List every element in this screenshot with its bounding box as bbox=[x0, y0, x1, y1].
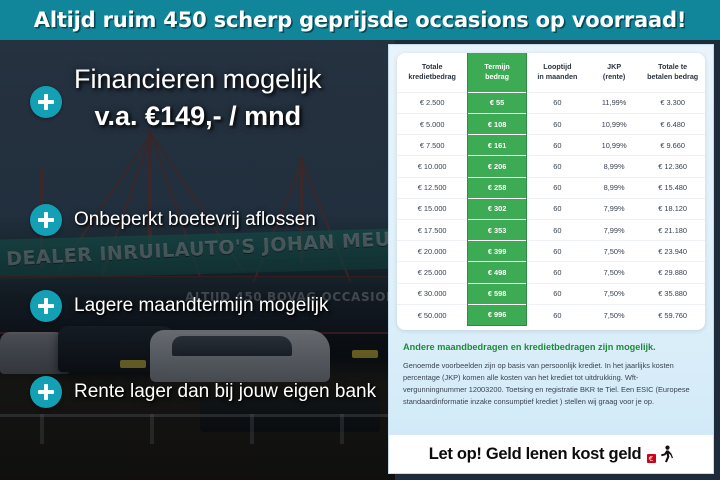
table-cell: € 23.940 bbox=[640, 241, 705, 262]
plus-icon bbox=[30, 290, 62, 322]
header-line: JKP bbox=[589, 62, 639, 72]
table-cell: € 30.000 bbox=[397, 283, 468, 304]
header-line: kredietbedrag bbox=[398, 72, 466, 82]
top-banner: Altijd ruim 450 scherp geprijsde occasio… bbox=[0, 0, 720, 40]
feature-item-monthly-rate: Lagere maandtermijn mogelijk bbox=[0, 290, 384, 322]
table-cell: € 498 bbox=[468, 262, 527, 283]
table-column-header: JKP(rente) bbox=[588, 53, 640, 92]
table-cell: 11,99% bbox=[588, 92, 640, 113]
table-row: € 15.000€ 302607,99%€ 18.120 bbox=[397, 198, 705, 219]
table-row: € 5.000€ 1086010,99%€ 6.480 bbox=[397, 114, 705, 135]
warning-bar: Let op! Geld lenen kost geld bbox=[389, 435, 713, 473]
table-cell: € 15.480 bbox=[640, 177, 705, 198]
feature-list: Financieren mogelijk v.a. €149,- / mnd O… bbox=[0, 40, 390, 480]
table-cell: € 3.300 bbox=[640, 92, 705, 113]
table-cell: € 25.000 bbox=[397, 262, 468, 283]
table-cell: € 55 bbox=[468, 92, 527, 113]
table-cell: 60 bbox=[526, 220, 588, 241]
table-cell: 60 bbox=[526, 114, 588, 135]
table-cell: € 108 bbox=[468, 114, 527, 135]
table-cell: € 29.880 bbox=[640, 262, 705, 283]
table-column-header: Totale tebetalen bedrag bbox=[640, 53, 705, 92]
advertisement-stage: DEALER INRUILAUTO'S JOHAN MEURE ALTIJD 4… bbox=[0, 0, 720, 480]
disclaimer-body: Genoemde voorbeelden zijn op basis van p… bbox=[403, 360, 699, 408]
table-cell: € 18.120 bbox=[640, 198, 705, 219]
table-cell: € 2.500 bbox=[397, 92, 468, 113]
table-cell: 60 bbox=[526, 135, 588, 156]
feature-item-interest-rate: Rente lager dan bij jouw eigen bank bbox=[0, 376, 384, 408]
table-cell: € 15.000 bbox=[397, 198, 468, 219]
table-cell: 10,99% bbox=[588, 135, 640, 156]
table-cell: € 10.000 bbox=[397, 156, 468, 177]
table-column-header: Looptijdin maanden bbox=[526, 53, 588, 92]
header-line: Totale te bbox=[641, 62, 704, 72]
table-cell: € 258 bbox=[468, 177, 527, 198]
table-column-header: Termijnbedrag bbox=[468, 53, 527, 92]
table-cell: 7,50% bbox=[588, 304, 640, 325]
header-line: Looptijd bbox=[528, 62, 587, 72]
table-cell: € 5.000 bbox=[397, 114, 468, 135]
table-cell: 60 bbox=[526, 177, 588, 198]
table-cell: € 302 bbox=[468, 198, 527, 219]
table-cell: 8,99% bbox=[588, 156, 640, 177]
table-cell: 60 bbox=[526, 283, 588, 304]
header-line: betalen bedrag bbox=[641, 72, 704, 82]
plus-icon bbox=[30, 204, 62, 236]
financing-headline-line1: Financieren mogelijk bbox=[74, 62, 322, 97]
table-cell: 8,99% bbox=[588, 177, 640, 198]
table-cell: 60 bbox=[526, 156, 588, 177]
table-cell: € 399 bbox=[468, 241, 527, 262]
table-cell: 60 bbox=[526, 262, 588, 283]
feature-label: Rente lager dan bij jouw eigen bank bbox=[74, 380, 376, 404]
top-banner-text: Altijd ruim 450 scherp geprijsde occasio… bbox=[34, 8, 686, 32]
table-cell: € 20.000 bbox=[397, 241, 468, 262]
header-line: (rente) bbox=[589, 72, 639, 82]
header-line: bedrag bbox=[469, 72, 525, 82]
table-row: € 20.000€ 399607,50%€ 23.940 bbox=[397, 241, 705, 262]
table-row: € 50.000€ 996607,50%€ 59.760 bbox=[397, 304, 705, 325]
table-row: € 30.000€ 598607,50%€ 35.880 bbox=[397, 283, 705, 304]
plus-icon bbox=[30, 376, 62, 408]
credit-table-head: TotalekredietbedragTermijnbedragLooptijd… bbox=[397, 53, 705, 92]
table-row: € 25.000€ 498607,50%€ 29.880 bbox=[397, 262, 705, 283]
warning-text: Let op! Geld lenen kost geld bbox=[429, 445, 642, 464]
header-line: in maanden bbox=[528, 72, 587, 82]
feature-item-repayment: Onbeperkt boetevrij aflossen bbox=[0, 204, 384, 236]
table-cell: € 9.660 bbox=[640, 135, 705, 156]
table-cell: 60 bbox=[526, 241, 588, 262]
table-cell: € 21.180 bbox=[640, 220, 705, 241]
credit-info-panel: TotalekredietbedragTermijnbedragLooptijd… bbox=[388, 44, 714, 474]
table-cell: 7,99% bbox=[588, 220, 640, 241]
table-cell: 60 bbox=[526, 304, 588, 325]
table-cell: 7,50% bbox=[588, 241, 640, 262]
table-cell: 7,50% bbox=[588, 283, 640, 304]
table-cell: € 17.500 bbox=[397, 220, 468, 241]
table-cell: € 996 bbox=[468, 304, 527, 325]
table-cell: € 206 bbox=[468, 156, 527, 177]
feature-item-financing: Financieren mogelijk v.a. €149,- / mnd bbox=[0, 62, 384, 133]
table-cell: 7,99% bbox=[588, 198, 640, 219]
header-line: Totale bbox=[398, 62, 466, 72]
table-cell: 60 bbox=[526, 92, 588, 113]
table-cell: € 12.360 bbox=[640, 156, 705, 177]
table-row: € 12.500€ 258608,99%€ 15.480 bbox=[397, 177, 705, 198]
feature-label: Onbeperkt boetevrij aflossen bbox=[74, 208, 316, 232]
table-row: € 2.500€ 556011,99%€ 3.300 bbox=[397, 92, 705, 113]
disclaimer-note: Andere maandbedragen en kredietbedragen … bbox=[389, 338, 713, 408]
table-cell: 10,99% bbox=[588, 114, 640, 135]
table-row: € 17.500€ 353607,99%€ 21.180 bbox=[397, 220, 705, 241]
table-cell: € 598 bbox=[468, 283, 527, 304]
table-cell: € 35.880 bbox=[640, 283, 705, 304]
feature-label: Lagere maandtermijn mogelijk bbox=[74, 294, 329, 318]
table-cell: € 59.760 bbox=[640, 304, 705, 325]
table-cell: 7,50% bbox=[588, 262, 640, 283]
table-row: € 7.500€ 1616010,99%€ 9.660 bbox=[397, 135, 705, 156]
table-cell: 60 bbox=[526, 198, 588, 219]
table-cell: € 6.480 bbox=[640, 114, 705, 135]
financing-headline-line2: v.a. €149,- / mnd bbox=[74, 99, 322, 134]
credit-table-card: TotalekredietbedragTermijnbedragLooptijd… bbox=[397, 53, 705, 330]
financing-headline: Financieren mogelijk v.a. €149,- / mnd bbox=[74, 62, 322, 133]
walking-person-icon bbox=[657, 445, 673, 463]
disclaimer-title: Andere maandbedragen en kredietbedragen … bbox=[403, 342, 699, 354]
table-cell: € 50.000 bbox=[397, 304, 468, 325]
euro-box-icon bbox=[647, 454, 656, 463]
geld-lenen-kost-geld-logo bbox=[647, 445, 673, 463]
table-header-row: TotalekredietbedragTermijnbedragLooptijd… bbox=[397, 53, 705, 92]
table-cell: € 161 bbox=[468, 135, 527, 156]
table-cell: € 353 bbox=[468, 220, 527, 241]
header-line: Termijn bbox=[469, 62, 525, 72]
credit-table-body: € 2.500€ 556011,99%€ 3.300€ 5.000€ 10860… bbox=[397, 92, 705, 325]
table-cell: € 7.500 bbox=[397, 135, 468, 156]
table-column-header: Totalekredietbedrag bbox=[397, 53, 468, 92]
table-row: € 10.000€ 206608,99%€ 12.360 bbox=[397, 156, 705, 177]
credit-table: TotalekredietbedragTermijnbedragLooptijd… bbox=[397, 53, 705, 326]
plus-icon bbox=[30, 86, 62, 118]
table-cell: € 12.500 bbox=[397, 177, 468, 198]
